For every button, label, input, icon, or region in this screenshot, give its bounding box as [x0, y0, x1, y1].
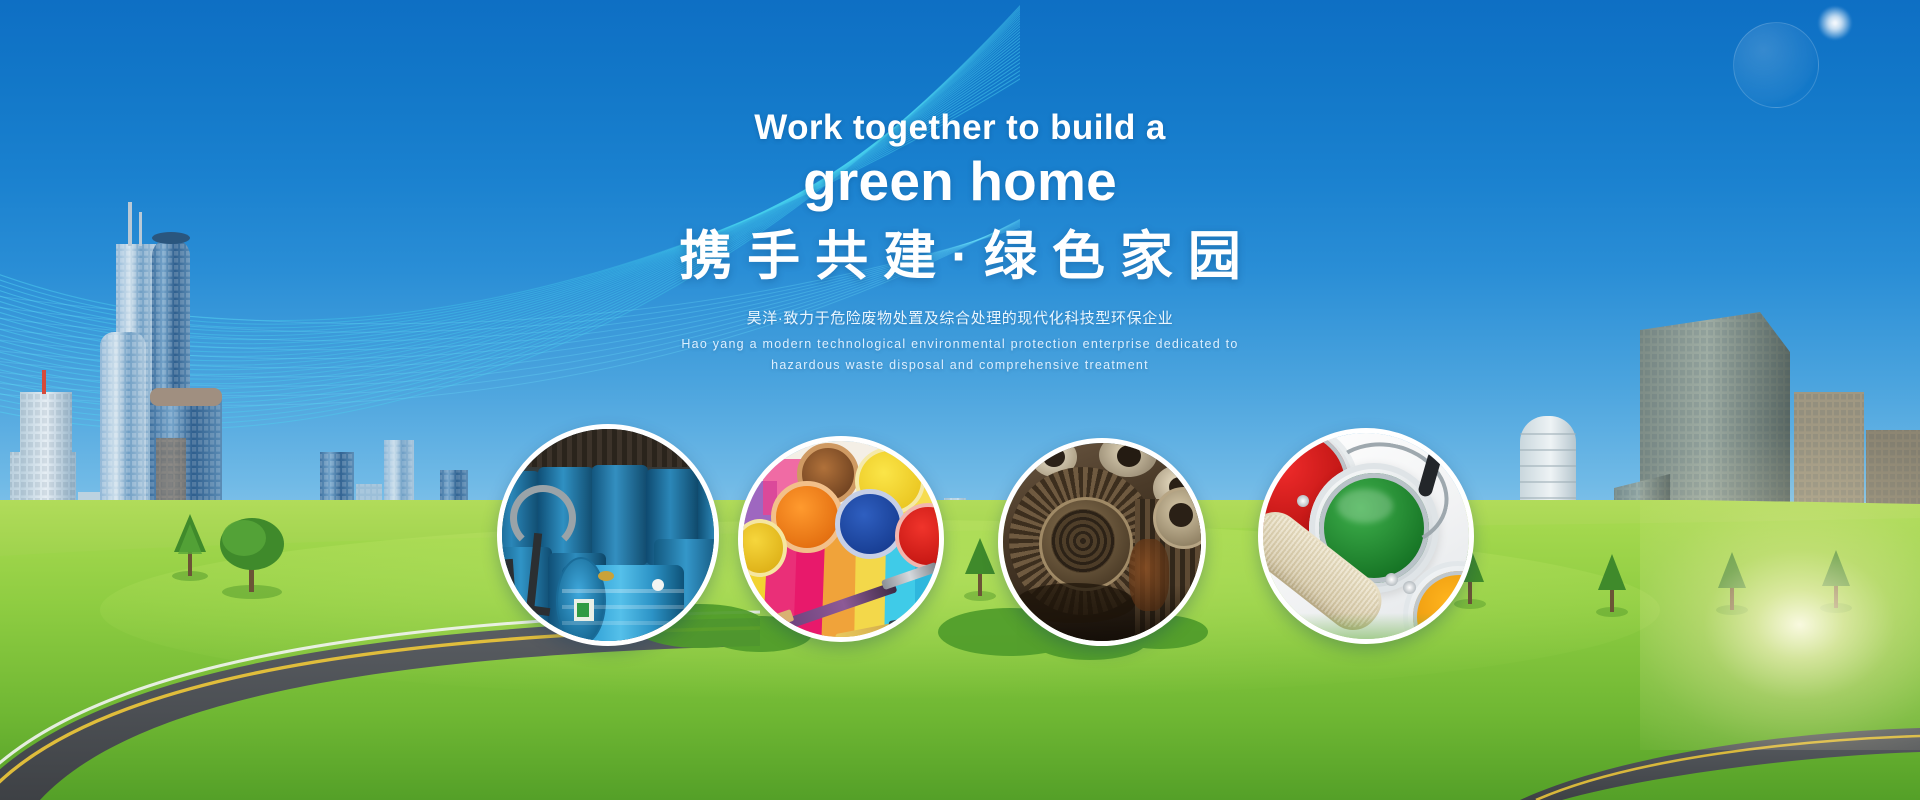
- green-meadow-and-road: [0, 500, 1920, 800]
- hero-banner: CITY: [0, 0, 1920, 800]
- drums-photo: [502, 429, 714, 641]
- photo-circle-paint-cans-and-roller[interactable]: [1258, 428, 1474, 644]
- paint-pots-photo: [743, 441, 939, 637]
- svg-text:CITY: CITY: [226, 512, 255, 522]
- paint-cans-photo: [1263, 433, 1469, 639]
- sun-flare-decoration: [1640, 420, 1920, 750]
- headline-chinese: 携手共建·绿色家园: [0, 226, 1920, 289]
- subtitle-english-line1: Hao yang a modern technological environm…: [0, 335, 1920, 354]
- subtitle-english-line2: hazardous waste disposal and comprehensi…: [0, 356, 1920, 375]
- photo-circle-blue-chemical-drums[interactable]: [497, 424, 719, 646]
- translucent-circle-decoration: [1733, 22, 1819, 108]
- photo-circle-waste-paint-pots[interactable]: [738, 436, 944, 642]
- light-glow-dot-icon: [1818, 6, 1852, 40]
- photo-circle-used-oil-filters[interactable]: [998, 438, 1206, 646]
- banner-copy-block: Work together to build a green home 携手共建…: [0, 110, 1920, 375]
- distant-treeline: [0, 530, 1920, 680]
- subtitle-chinese: 昊洋·致力于危险废物处置及综合处理的现代化科技型环保企业: [0, 308, 1920, 331]
- headline-english-line1: Work together to build a: [0, 110, 1920, 147]
- oil-filters-photo: [1003, 443, 1201, 641]
- headline-english-line2: green home: [0, 151, 1920, 213]
